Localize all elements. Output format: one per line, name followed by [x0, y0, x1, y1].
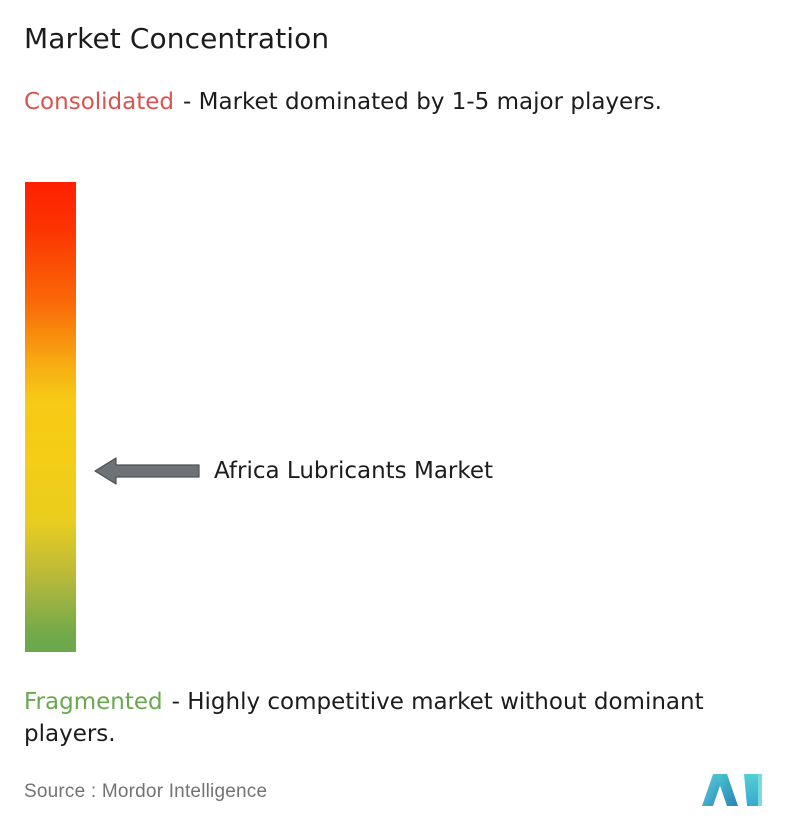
footer: Source : Mordor Intelligence	[0, 764, 796, 820]
consolidated-description: Consolidated- Market dominated by 1-5 ma…	[24, 86, 776, 118]
fragmented-description: Fragmented- Highly competitive market wi…	[24, 686, 784, 750]
consolidated-keyword: Consolidated	[24, 89, 174, 115]
market-callout-label: Africa Lubricants Market	[214, 456, 493, 486]
concentration-gradient-bar	[25, 182, 76, 652]
source-label: Source : Mordor Intelligence	[24, 781, 267, 803]
market-callout: Africa Lubricants Market	[94, 451, 493, 491]
left-arrow-icon	[94, 451, 200, 491]
consolidated-description-text: - Market dominated by 1-5 major players.	[183, 89, 662, 115]
page-title: Market Concentration	[24, 20, 329, 58]
fragmented-keyword: Fragmented	[24, 689, 163, 715]
mordor-intelligence-logo-icon	[700, 772, 772, 812]
market-concentration-infographic: Market Concentration Consolidated- Marke…	[0, 0, 796, 834]
